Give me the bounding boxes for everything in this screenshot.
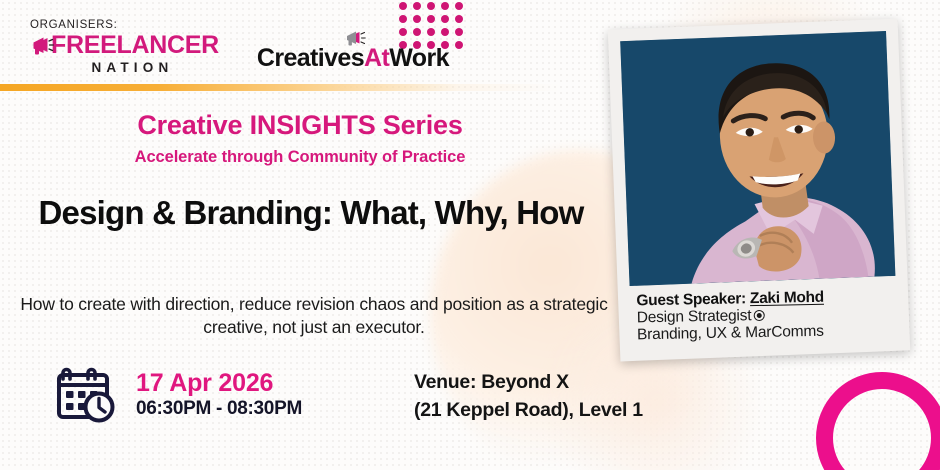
grid-dot xyxy=(399,15,407,23)
caw-part-at: At xyxy=(364,44,389,72)
venue-block: Venue: Beyond X (21 Keppel Road), Level … xyxy=(414,368,643,425)
creatives-at-work-wordmark: CreativesAtWork xyxy=(257,46,449,71)
calendar-clock-icon xyxy=(55,365,117,425)
grid-dot xyxy=(455,2,463,10)
orange-accent-rule xyxy=(0,84,560,91)
speaker-caption: Guest Speaker: Zaki Mohd Design Strategi… xyxy=(630,278,897,344)
grid-dot xyxy=(441,15,449,23)
grid-dot xyxy=(455,41,463,49)
series-title: Creative INSIGHTS Series xyxy=(0,110,600,141)
speaker-photo xyxy=(620,31,895,286)
nation-subtitle: NATION xyxy=(46,60,219,75)
event-date: 17 Apr 2026 xyxy=(136,369,302,397)
pink-ring-decoration xyxy=(816,372,940,470)
caw-part-work: Work xyxy=(389,44,449,72)
megaphone-icon xyxy=(30,35,54,57)
bullet-dot-icon xyxy=(753,310,764,321)
grid-dot xyxy=(455,15,463,23)
grid-dot xyxy=(441,2,449,10)
speaker-polaroid: Guest Speaker: Zaki Mohd Design Strategi… xyxy=(608,19,911,362)
grid-dot xyxy=(427,15,435,23)
date-text-wrap: 17 Apr 2026 06:30PM - 08:30PM xyxy=(136,369,302,422)
page-title: Design & Branding: What, Why, How xyxy=(22,192,600,234)
speaker-specialties: Branding, UX & MarComms xyxy=(637,322,893,344)
freelancer-word: FREELANCER xyxy=(51,33,219,58)
event-banner: ORGANISERS: FREELANCER NATION xyxy=(0,0,940,470)
logo-creatives-at-work: CreativesAtWork xyxy=(257,38,449,71)
event-time: 06:30PM - 08:30PM xyxy=(136,397,302,422)
freelancer-rest: REELANCER xyxy=(66,31,219,59)
speaker-caption-prefix: Guest Speaker: xyxy=(636,290,750,309)
organisers-label-wrap: ORGANISERS: xyxy=(30,19,118,31)
grid-dot xyxy=(413,15,421,23)
logo-freelancer-nation: FREELANCER NATION xyxy=(30,33,219,75)
speaker-name: Zaki Mohd xyxy=(750,289,824,307)
organiser-logos: FREELANCER NATION CreativesAtWork xyxy=(30,33,449,75)
speaker-role-text: Design Strategist xyxy=(637,307,752,326)
venue-line-1: Venue: Beyond X xyxy=(414,368,643,396)
megaphone-icon xyxy=(345,29,367,49)
date-time-block: 17 Apr 2026 06:30PM - 08:30PM xyxy=(55,365,302,425)
organisers-label: ORGANISERS: xyxy=(30,19,118,31)
grid-dot xyxy=(399,2,407,10)
freelancer-nation-wordmark: FREELANCER xyxy=(30,33,219,58)
grid-dot xyxy=(455,28,463,36)
grid-dot xyxy=(413,2,421,10)
series-subtitle: Accelerate through Community of Practice xyxy=(0,148,600,167)
speaker-portrait xyxy=(620,31,895,286)
venue-line-2: (21 Keppel Road), Level 1 xyxy=(414,396,643,424)
description-text: How to create with direction, reduce rev… xyxy=(20,293,608,340)
grid-dot xyxy=(427,2,435,10)
